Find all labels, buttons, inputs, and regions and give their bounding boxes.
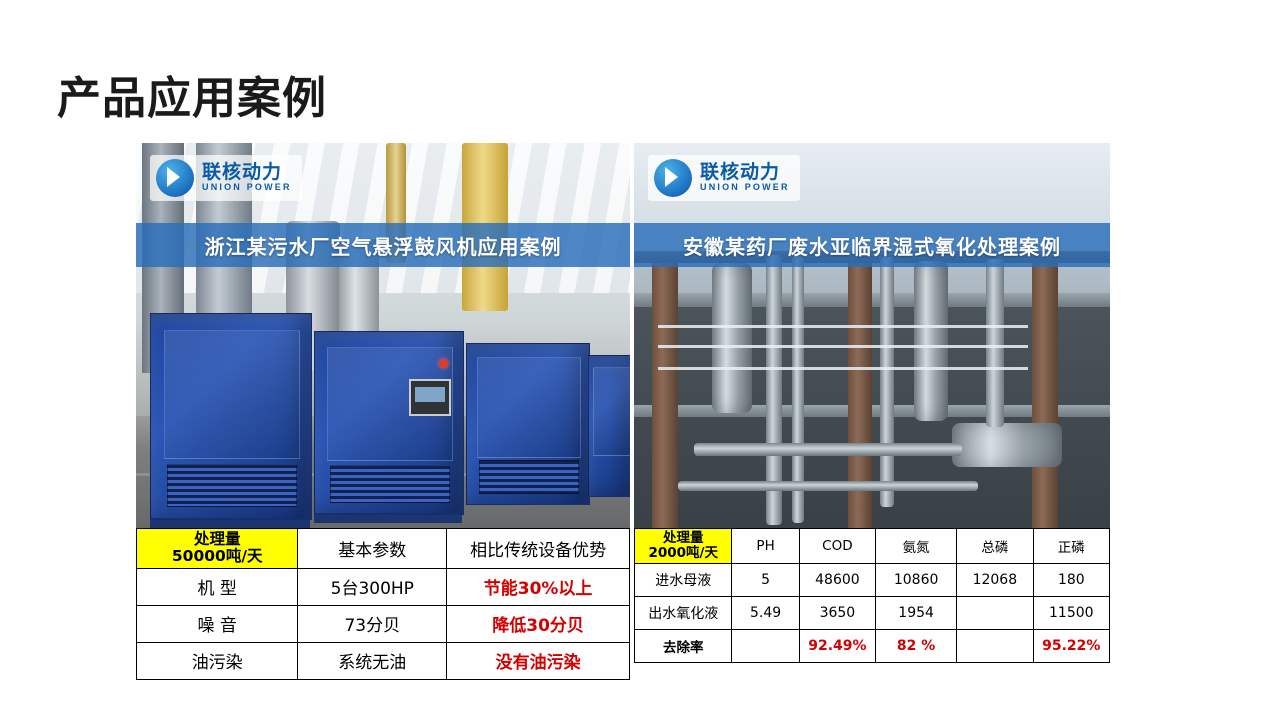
cell-total-p (957, 630, 1033, 663)
cell-ortho-p: 95.22% (1033, 630, 1109, 663)
cell-total-p (957, 597, 1033, 630)
unit-door (477, 357, 581, 458)
riser-pipe-4 (986, 259, 1004, 427)
blower-unit-3 (466, 343, 590, 505)
logo-text: 联核动力 UNION POWER (202, 163, 292, 192)
table-row: 噪 音 73分贝 降低30分贝 (137, 605, 630, 642)
cell-cod: 3650 (799, 597, 875, 630)
horizontal-drum (952, 423, 1062, 467)
logo-text: 联核动力 UNION POWER (700, 163, 790, 192)
structural-column-3 (1032, 255, 1058, 528)
process-vessel-1 (712, 263, 752, 413)
row-advantage: 降低30分贝 (447, 605, 630, 642)
table-row: 进水母液 5 48600 10860 12068 180 (635, 564, 1110, 597)
cell-ortho-p: 180 (1033, 564, 1109, 597)
logo-mark-icon (654, 159, 692, 197)
header-total-p: 总磷 (957, 529, 1033, 564)
handrail-top (658, 325, 1028, 328)
row-advantage: 没有油污染 (447, 642, 630, 679)
header-advantage: 相比传统设备优势 (447, 529, 630, 569)
header-ortho-p: 正磷 (1033, 529, 1109, 564)
row-advantage: 节能30%以上 (447, 568, 630, 605)
table-header-row: 处理量 50000吨/天 基本参数 相比传统设备优势 (137, 529, 630, 569)
logo-name-cn: 联核动力 (202, 163, 292, 183)
header-basic-params: 基本参数 (298, 529, 447, 569)
table-row: 出水氧化液 5.49 3650 1954 11500 (635, 597, 1110, 630)
case-panel-right: 联核动力 UNION POWER 安徽某药厂废水亚临界湿式氧化处理案例 处理量 … (634, 143, 1110, 663)
header-pipe-2 (678, 481, 978, 491)
unit-base-2 (314, 513, 462, 523)
control-panel (409, 379, 451, 416)
header-throughput: 处理量 2000吨/天 (635, 529, 732, 564)
logo-name-en: UNION POWER (700, 183, 790, 192)
company-logo: 联核动力 UNION POWER (648, 155, 800, 201)
case-caption-left: 浙江某污水厂空气悬浮鼓风机应用案例 (136, 223, 630, 267)
cell-ph (732, 630, 799, 663)
cell-total-p: 12068 (957, 564, 1033, 597)
table-row: 去除率 92.49% 82 % 95.22% (635, 630, 1110, 663)
cell-ph: 5.49 (732, 597, 799, 630)
page-title: 产品应用案例 (57, 62, 327, 126)
header-throughput-line2: 50000吨/天 (137, 548, 297, 565)
riser-pipe-3 (880, 257, 894, 507)
unit-door (593, 367, 630, 456)
header-cod: COD (799, 529, 875, 564)
structural-column-1 (652, 261, 678, 528)
cell-ph: 5 (732, 564, 799, 597)
company-logo: 联核动力 UNION POWER (150, 155, 302, 201)
row-label: 进水母液 (635, 564, 732, 597)
cell-cod: 92.49% (799, 630, 875, 663)
handrail-bottom (658, 367, 1028, 370)
header-throughput: 处理量 50000吨/天 (137, 529, 298, 569)
row-param: 73分贝 (298, 605, 447, 642)
logo-mark-icon (156, 159, 194, 197)
blower-unit-2 (314, 331, 464, 515)
unit-vent (167, 464, 297, 507)
case-photo-right: 联核动力 UNION POWER 安徽某药厂废水亚临界湿式氧化处理案例 (634, 143, 1110, 528)
row-label: 出水氧化液 (635, 597, 732, 630)
table-row: 油污染 系统无油 没有油污染 (137, 642, 630, 679)
row-label: 去除率 (635, 630, 732, 663)
unit-base-1 (150, 518, 310, 528)
cell-ammonia: 1954 (876, 597, 957, 630)
row-param: 系统无油 (298, 642, 447, 679)
row-label: 油污染 (137, 642, 298, 679)
case-photo-left: 联核动力 UNION POWER 浙江某污水厂空气悬浮鼓风机应用案例 (136, 143, 630, 528)
header-throughput-line1: 处理量 (635, 531, 731, 546)
table-header-row: 处理量 2000吨/天 PH COD 氨氮 总磷 正磷 (635, 529, 1110, 564)
logo-name-cn: 联核动力 (700, 163, 790, 183)
cell-ammonia: 82 % (876, 630, 957, 663)
header-ammonia: 氨氮 (876, 529, 957, 564)
blower-unit-4 (588, 355, 630, 497)
case-panel-left: 联核动力 UNION POWER 浙江某污水厂空气悬浮鼓风机应用案例 处理量 5… (136, 143, 630, 680)
unit-vent (330, 465, 450, 503)
row-label: 机 型 (137, 568, 298, 605)
row-param: 5台300HP (298, 568, 447, 605)
unit-door (164, 330, 300, 459)
spec-table-left: 处理量 50000吨/天 基本参数 相比传统设备优势 机 型 5台300HP 节… (136, 528, 630, 680)
case-caption-right: 安徽某药厂废水亚临界湿式氧化处理案例 (634, 223, 1110, 267)
logo-name-en: UNION POWER (202, 183, 292, 192)
cell-cod: 48600 (799, 564, 875, 597)
header-pipe-1 (694, 443, 962, 456)
process-vessel-2 (914, 261, 948, 421)
handrail-mid (658, 345, 1028, 348)
header-ph: PH (732, 529, 799, 564)
cell-ammonia: 10860 (876, 564, 957, 597)
table-row: 机 型 5台300HP 节能30%以上 (137, 568, 630, 605)
slide-root: 产品应用案例 (0, 0, 1280, 720)
results-table-right: 处理量 2000吨/天 PH COD 氨氮 总磷 正磷 进水母液 5 48600… (634, 528, 1110, 663)
row-label: 噪 音 (137, 605, 298, 642)
cell-ortho-p: 11500 (1033, 597, 1109, 630)
header-throughput-line1: 处理量 (137, 531, 297, 548)
header-throughput-line2: 2000吨/天 (635, 546, 731, 561)
unit-vent (479, 460, 579, 494)
blower-unit-1 (150, 313, 312, 520)
